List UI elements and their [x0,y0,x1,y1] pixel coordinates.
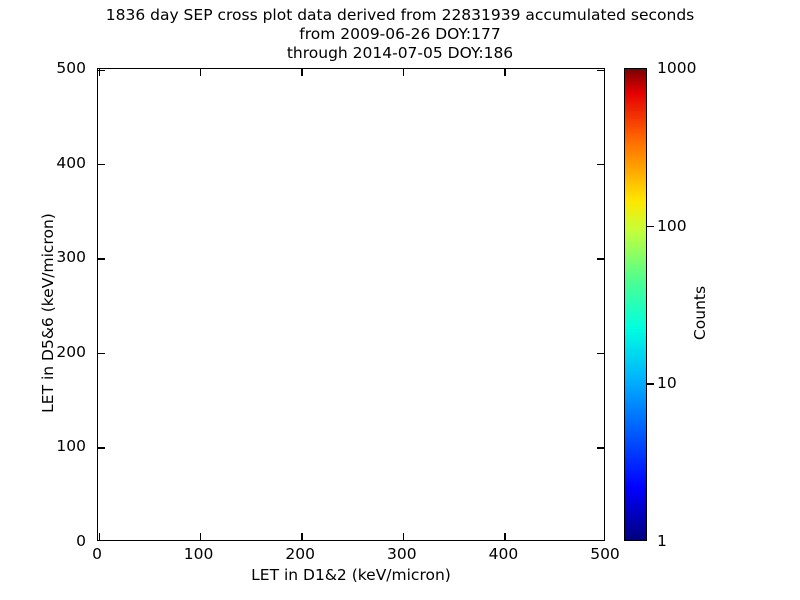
colorbar-tick-label: 1000 [657,59,696,77]
x-tick-label: 100 [184,545,214,563]
x-tick-mark [403,533,404,540]
y-tick-mark [98,447,105,448]
y-tick-mark [597,447,604,448]
figure-title: 1836 day SEP cross plot data derived fro… [0,6,800,63]
y-tick-mark [98,258,105,259]
x-tick-mark [200,533,201,540]
x-axis-title: LET in D1&2 (keV/micron) [97,566,605,584]
colorbar-tick-mark [647,226,654,227]
y-tick-mark [597,258,604,259]
colorbar-gradient [625,69,646,540]
title-line-1: 1836 day SEP cross plot data derived fro… [0,6,800,25]
y-tick-label: 400 [0,154,86,172]
colorbar-tick-mark [647,383,654,384]
x-tick-label: 500 [590,545,620,563]
x-tick-mark [504,69,505,76]
y-tick-label: 500 [0,59,86,77]
y-tick-mark [597,70,604,71]
x-tick-label: 0 [92,545,102,563]
y-tick-mark [98,70,105,71]
y-tick-mark [98,164,105,165]
title-line-2: from 2009-06-26 DOY:177 [0,25,800,44]
x-tick-mark [301,69,302,76]
y-tick-label: 0 [0,532,86,550]
plot-area [97,68,605,541]
x-tick-label: 400 [489,545,519,563]
figure-root: 1836 day SEP cross plot data derived fro… [0,0,800,600]
x-tick-mark [403,69,404,76]
y-tick-mark [597,164,604,165]
y-tick-mark [98,540,105,541]
x-tick-mark [301,533,302,540]
y-tick-mark [98,353,105,354]
x-tick-label: 300 [387,545,417,563]
colorbar-tick-label: 10 [657,374,677,392]
scatter-density-canvas [98,69,604,540]
colorbar [624,68,647,541]
colorbar-tick-label: 1 [657,532,667,550]
y-tick-mark [597,540,604,541]
colorbar-title: Counts [691,233,709,393]
x-tick-mark [504,533,505,540]
colorbar-tick-label: 100 [657,217,687,235]
x-tick-mark [200,69,201,76]
x-tick-label: 200 [285,545,315,563]
y-axis-title: LET in D5&6 (keV/micron) [39,173,57,453]
y-tick-mark [597,353,604,354]
